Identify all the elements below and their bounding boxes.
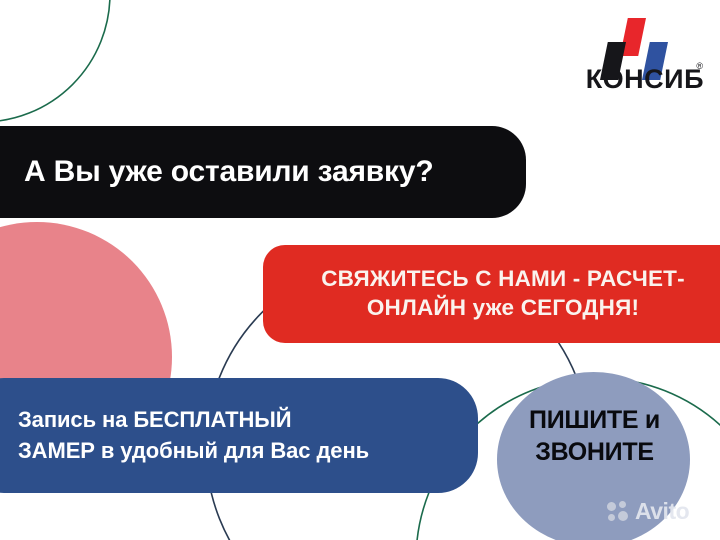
contact-banner-line2: ОНЛАЙН уже СЕГОДНЯ! <box>321 294 685 323</box>
contact-banner-text: СВЯЖИТЕСЬ С НАМИ - РАСЧЕТ- ОНЛАЙН уже СЕ… <box>321 265 685 323</box>
avito-watermark-label: Avito <box>635 500 689 523</box>
contact-banner: СВЯЖИТЕСЬ С НАМИ - РАСЧЕТ- ОНЛАЙН уже СЕ… <box>263 245 720 343</box>
call-to-action-text: ПИШИТЕ и ЗВОНИТЕ <box>497 404 692 468</box>
green-arc-top-left <box>0 0 110 122</box>
konsib-logo: КОНСИБ ® <box>564 16 704 101</box>
question-banner: А Вы уже оставили заявку? <box>0 126 526 218</box>
question-banner-text: А Вы уже оставили заявку? <box>24 155 433 189</box>
free-measure-banner: Запись на БЕСПЛАТНЫЙ ЗАМЕР в удобный для… <box>0 378 478 493</box>
promo-banner-canvas: КОНСИБ ® А Вы уже оставили заявку? СВЯЖИ… <box>0 0 720 540</box>
avito-dots-icon <box>607 501 633 523</box>
free-measure-line2: ЗАМЕР в удобный для Вас день <box>18 436 369 466</box>
call-to-action-line2: ЗВОНИТЕ <box>497 436 692 468</box>
logo-wordmark: КОНСИБ <box>564 66 704 93</box>
contact-banner-line1: СВЯЖИТЕСЬ С НАМИ - РАСЧЕТ- <box>321 265 685 294</box>
avito-watermark: Avito <box>607 500 689 523</box>
free-measure-banner-text: Запись на БЕСПЛАТНЫЙ ЗАМЕР в удобный для… <box>18 405 369 466</box>
registered-trademark-icon: ® <box>696 62 703 71</box>
call-to-action-line1: ПИШИТЕ и <box>497 404 692 436</box>
logo-mark-group <box>564 16 704 68</box>
free-measure-line1: Запись на БЕСПЛАТНЫЙ <box>18 405 369 435</box>
